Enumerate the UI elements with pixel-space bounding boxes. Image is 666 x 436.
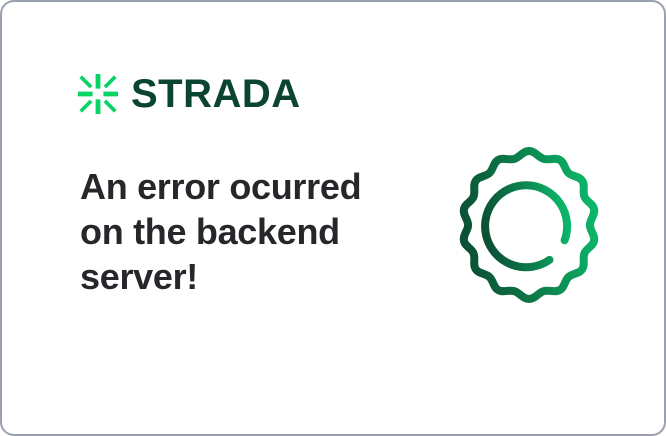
strada-starburst-icon [78, 74, 118, 114]
error-message: An error ocurred on the backend server! [80, 164, 370, 299]
brand-lockup: STRADA [78, 70, 301, 118]
gear-cog-icon [445, 139, 613, 307]
brand-wordmark: STRADA [131, 74, 301, 114]
error-card: STRADA An error ocurred on the backend s… [0, 0, 666, 436]
